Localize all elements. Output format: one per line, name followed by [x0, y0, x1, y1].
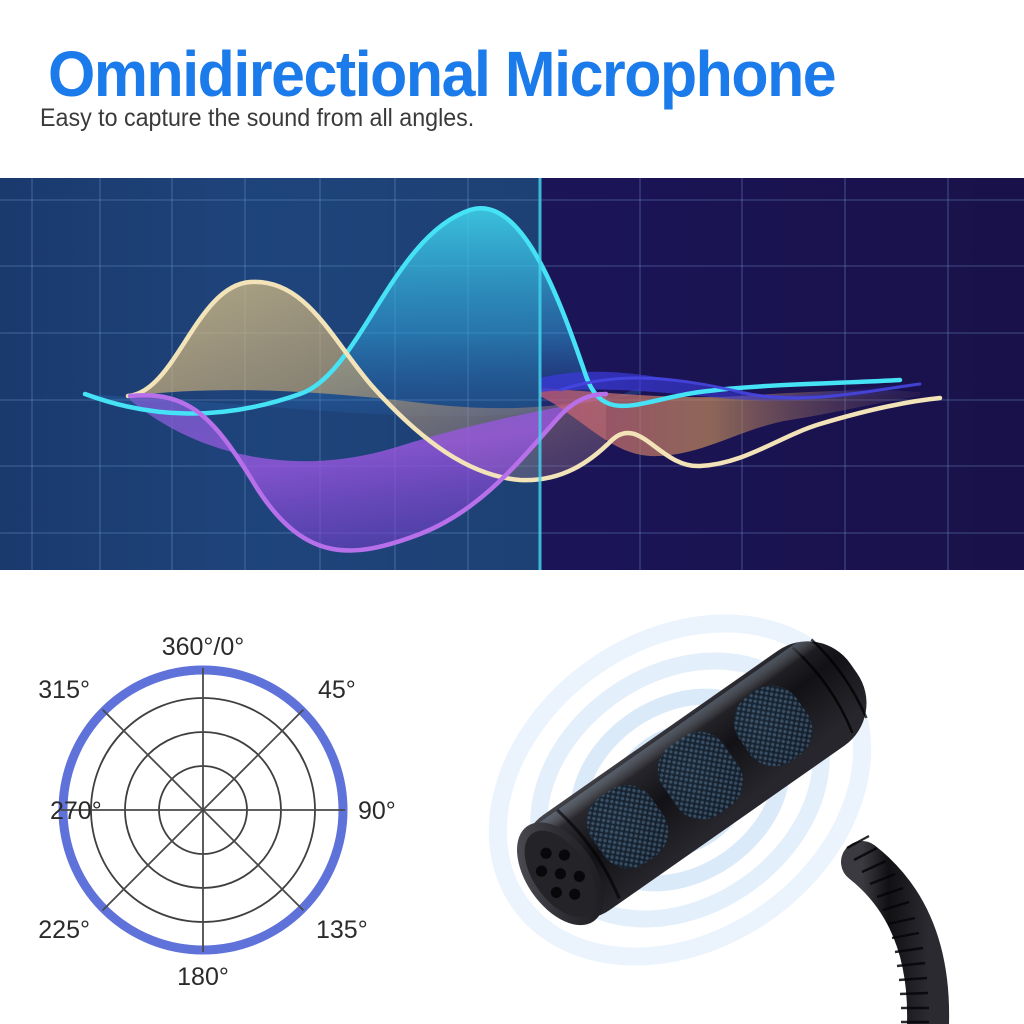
- waveform-banner: [0, 178, 1024, 570]
- polar-label-45: 45°: [318, 676, 356, 704]
- product-feature-page: Omnidirectional Microphone Easy to captu…: [0, 0, 1024, 1024]
- polar-label-225: 225°: [38, 916, 90, 944]
- polar-label-270: 270°: [50, 797, 102, 825]
- gooseneck: [847, 836, 929, 1024]
- polar-label-90: 90°: [358, 797, 396, 825]
- bottom-section: 360°/0° 45° 90° 135° 180° 225° 270° 315°: [0, 570, 1024, 1024]
- polar-label-0: 360°/0°: [162, 633, 245, 661]
- microphone-image: [430, 580, 1024, 1024]
- gooseneck-tube: [862, 862, 928, 1024]
- header-section: Omnidirectional Microphone Easy to captu…: [0, 0, 1024, 178]
- polar-label-135: 135°: [316, 916, 368, 944]
- polar-label-315: 315°: [38, 676, 90, 704]
- polar-grid-axes: [61, 668, 345, 952]
- polar-label-180: 180°: [177, 963, 229, 991]
- page-title: Omnidirectional Microphone: [48, 42, 835, 106]
- polar-pattern-diagram: 360°/0° 45° 90° 135° 180° 225° 270° 315°: [8, 600, 428, 1000]
- page-subtitle: Easy to capture the sound from all angle…: [40, 106, 474, 131]
